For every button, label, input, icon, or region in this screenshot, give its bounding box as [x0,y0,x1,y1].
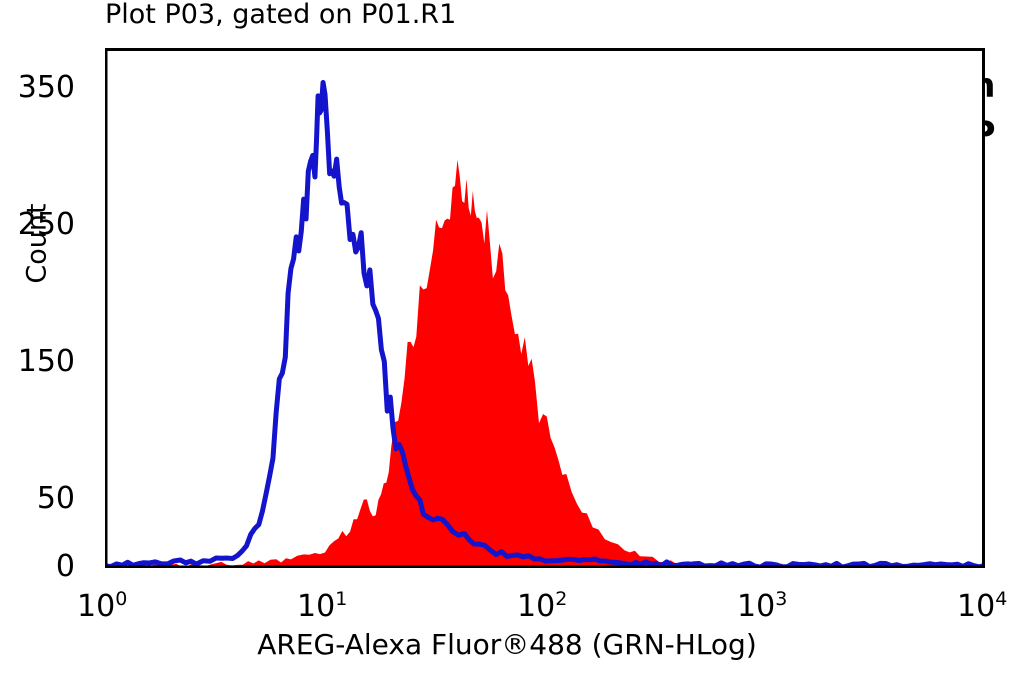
y-tick-label: 0 [11,552,75,582]
y-tick-label: 350 [11,73,75,103]
x-tick-label: 100 [77,592,127,622]
x-tick-label: 101 [297,592,347,622]
flow-cytometry-histogram-figure: Plot P03, gated on P01.R1 Count AREG-Ale… [0,0,1014,684]
histogram-svg [105,48,985,568]
y-tick-label: 250 [11,210,75,240]
x-tick-label: 104 [957,592,1007,622]
x-tick-label: 103 [737,592,787,622]
x-tick-label: 102 [517,592,567,622]
y-tick-label: 50 [11,484,75,514]
x-axis-label: AREG-Alexa Fluor®488 (GRN-HLog) [0,628,1014,661]
y-tick-label: 150 [11,347,75,377]
plot-title: Plot P03, gated on P01.R1 [105,0,456,32]
chart-plot-area [105,48,985,568]
y-axis-label: Count [22,184,53,304]
